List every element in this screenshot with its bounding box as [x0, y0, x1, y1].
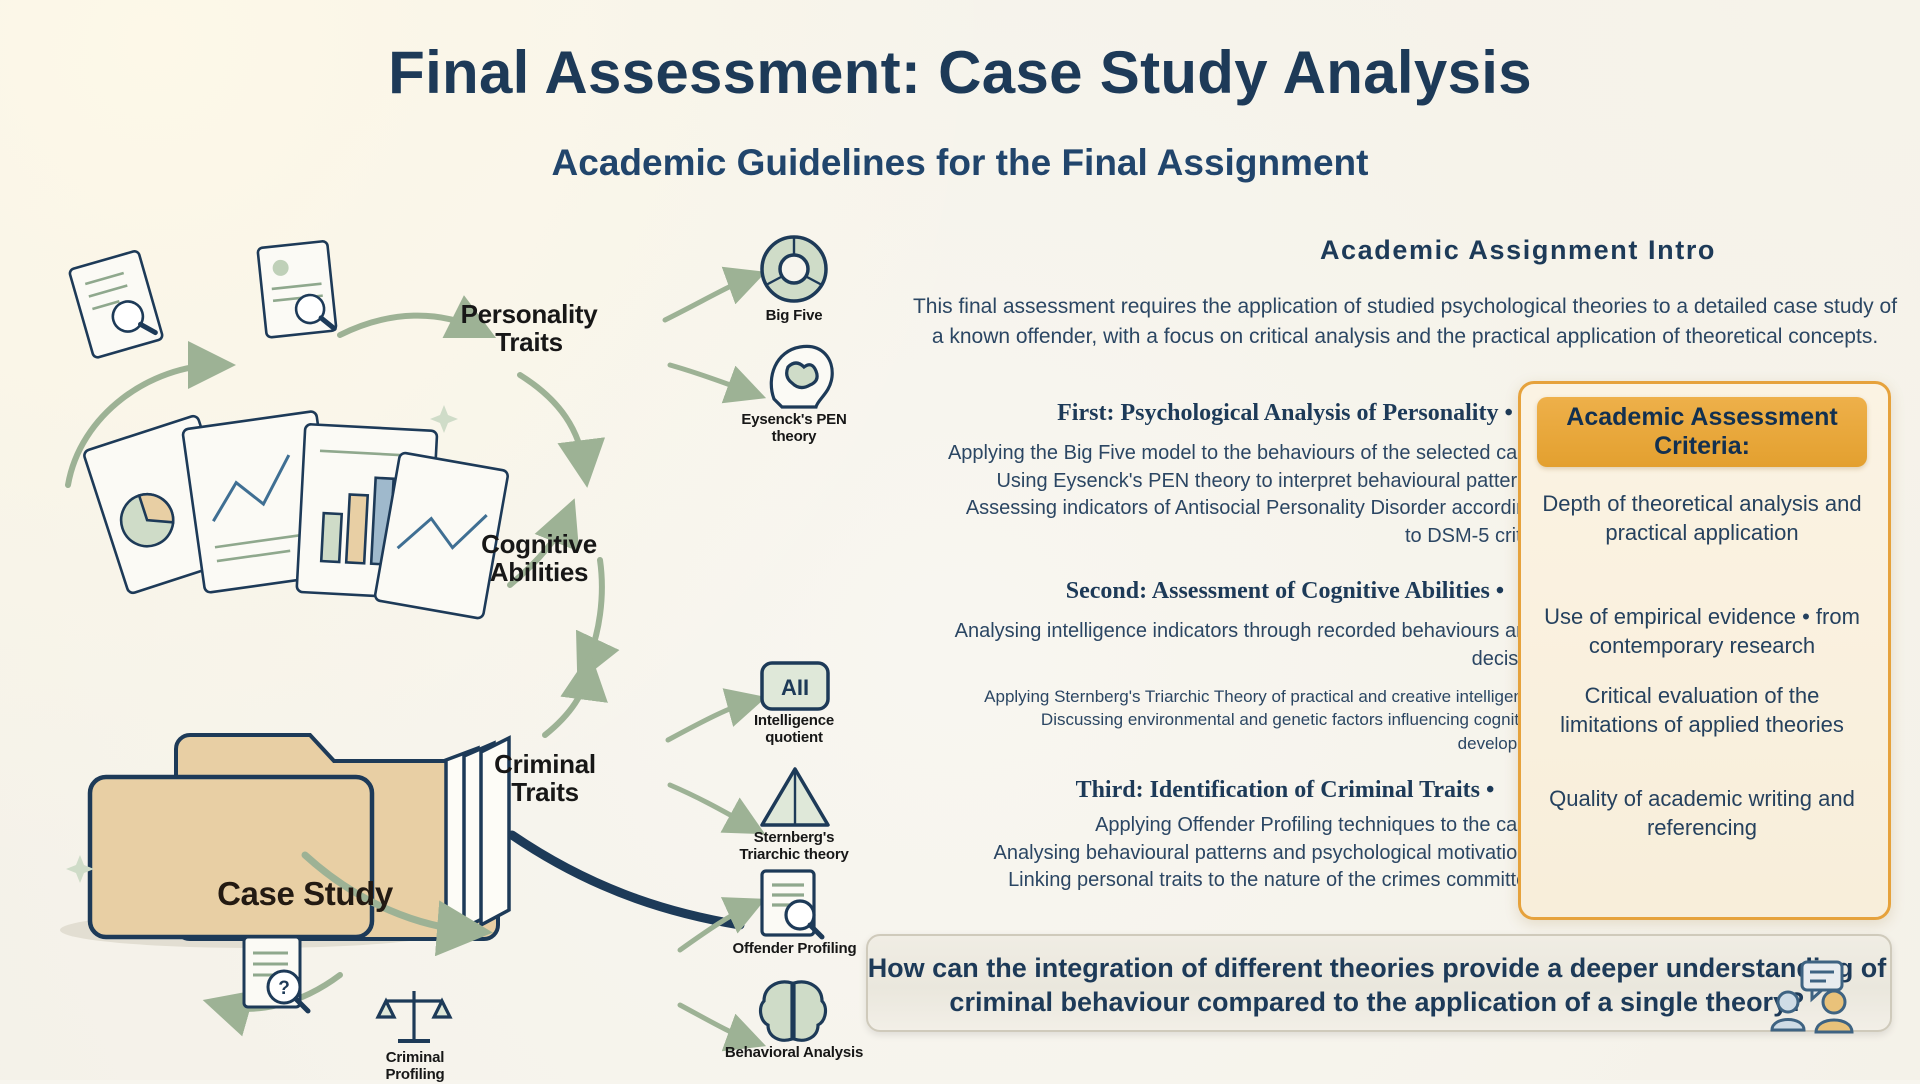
section-body-first: Applying the Big Five model to the behav… — [905, 440, 1555, 550]
section-line: Using Eysenck's PEN theory to interpret … — [905, 468, 1555, 496]
document-magnifier-icon — [762, 871, 822, 937]
criteria-item: Quality of academic writing and referenc… — [1537, 785, 1867, 842]
folder-label: Case Study — [180, 875, 430, 913]
sublabel-criminal-profiling: Criminal Profiling — [340, 1050, 490, 1084]
sublabel-offender-profiling: Offender Profiling — [712, 941, 877, 958]
page-title: Final Assessment: Case Study Analysis — [0, 38, 1920, 107]
assessment-criteria-title: Academic Assessment Criteria: — [1537, 397, 1867, 467]
svg-text:AII: AII — [781, 675, 809, 700]
brain-icon — [761, 982, 826, 1040]
sublabel-eysenck-pen: Eysenck's PEN theory — [719, 412, 869, 446]
section-line: Linking personal traits to the nature of… — [905, 867, 1555, 895]
section-body-third: Applying Offender Profiling techniques t… — [905, 812, 1555, 895]
section-body-second: Analysing intelligence indicators throug… — [905, 618, 1555, 673]
donut-chart-icon — [762, 237, 826, 301]
report-papers-icon — [83, 411, 509, 619]
sublabel-behavioral-analysis: Behavioral Analysis — [710, 1045, 878, 1062]
folder-connector-line — [512, 835, 740, 925]
criteria-item: Use of empirical evidence • from contemp… — [1537, 603, 1867, 660]
node-cognitive-abilities: Cognitive Abilities — [454, 530, 624, 586]
section-line: to DSM-5 criteria — [905, 523, 1555, 551]
chat-users-icon — [1768, 960, 1864, 1036]
sublabel-sternberg-triarchic: Sternberg's Triarchic theory — [719, 830, 869, 864]
node-criminal-traits: Criminal Traits — [460, 750, 630, 806]
sublabel-big-five: Big Five — [719, 308, 869, 325]
document-cluster-icon — [69, 241, 337, 359]
question-document-icon: ? — [244, 937, 308, 1011]
criteria-item: Critical evaluation of the limitations o… — [1537, 682, 1867, 739]
section-line: Applying the Big Five model to the behav… — [905, 440, 1555, 468]
section-line: Analysing behavioural patterns and psych… — [905, 840, 1555, 868]
page-subtitle: Academic Guidelines for the Final Assign… — [0, 142, 1920, 184]
iq-badge-icon: AII — [762, 663, 828, 709]
section-line: decisions — [905, 646, 1555, 674]
section-body-second-extra: Applying Sternberg's Triarchic Theory of… — [905, 685, 1555, 755]
discussion-question-text: How can the integration of different the… — [866, 952, 1888, 1020]
assignment-intro-text: This final assessment requires the appli… — [905, 292, 1905, 352]
section-line: development — [905, 732, 1555, 755]
case-study-diagram: AII — [40, 215, 870, 1065]
svg-text:?: ? — [278, 978, 290, 999]
node-personality-traits: Personality Traits — [444, 300, 614, 356]
poster-canvas: Final Assessment: Case Study Analysis Ac… — [0, 0, 1920, 1080]
section-line: Assessing indicators of Antisocial Perso… — [905, 495, 1555, 523]
section-line: Applying Offender Profiling techniques t… — [905, 812, 1555, 840]
head-brain-icon — [771, 346, 832, 407]
criteria-item: Depth of theoretical analysis and practi… — [1537, 490, 1867, 547]
scales-icon — [378, 991, 450, 1041]
triangle-icon — [762, 769, 828, 825]
sublabel-intelligence-quotient: Intelligence quotient — [719, 713, 869, 747]
right-panel-heading: Academic Assignment Intro — [1138, 235, 1898, 266]
section-line: Applying Sternberg's Triarchic Theory of… — [905, 685, 1555, 708]
section-line: Discussing environmental and genetic fac… — [905, 708, 1555, 731]
section-line: Analysing intelligence indicators throug… — [905, 618, 1555, 646]
